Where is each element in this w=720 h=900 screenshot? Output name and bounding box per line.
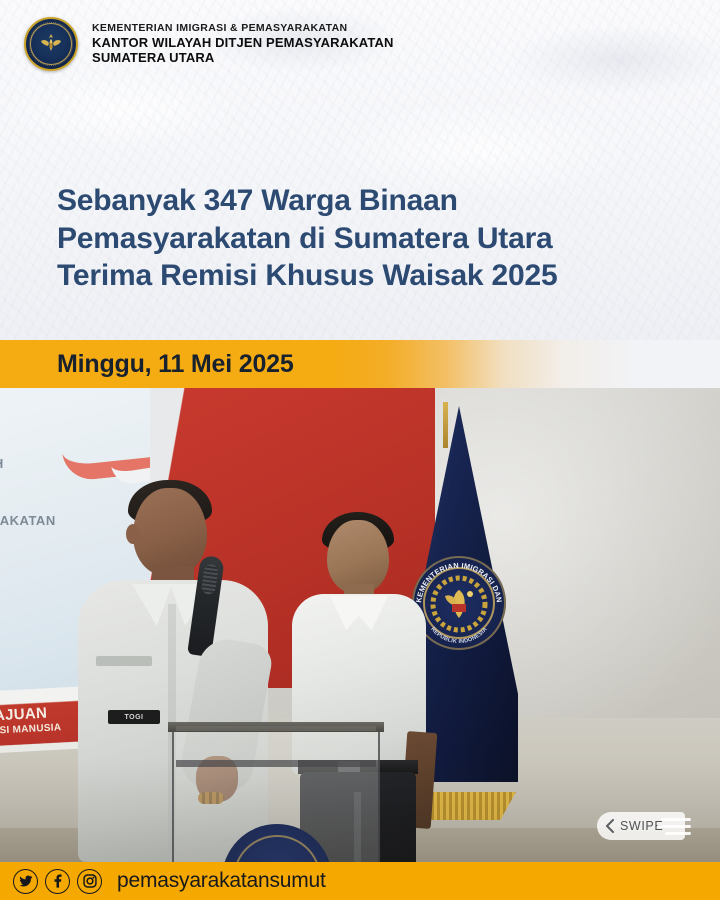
speaker-nametag: TOGI (108, 710, 160, 724)
flag-ministry-emblem: KEMENTERIAN IMIGRASI DAN REPUBLIK INDONE… (412, 556, 506, 650)
backdrop-text-1: AH (0, 456, 4, 471)
flag-pole (443, 402, 448, 448)
poster-header: KEMENTERIAN IMIGRASI & PEMASYARAKATAN KA… (0, 0, 720, 88)
swipe-button[interactable]: SWIPE (597, 812, 685, 840)
news-photo: AH YARAKATAN AJUAN ASI MANUSIA KEMENTERI… (0, 388, 720, 862)
header-line-1: KEMENTERIAN IMIGRASI & PEMASYARAKATAN (92, 22, 394, 34)
speaker-head (133, 488, 207, 576)
backdrop-text-2: YARAKATAN (0, 513, 56, 528)
twitter-icon[interactable] (13, 869, 38, 894)
instagram-icon[interactable] (77, 869, 102, 894)
date-band: Minggu, 11 Mei 2025 (0, 340, 720, 388)
chevron-left-icon (605, 819, 615, 833)
date-text: Minggu, 11 Mei 2025 (57, 350, 294, 379)
social-media-poster: KEMENTERIAN IMIGRASI & PEMASYARAKATAN KA… (0, 0, 720, 900)
headline-title: Sebanyak 347 Warga Binaan Pemasyarakatan… (57, 182, 617, 295)
red-strip-text-1: AJUAN (0, 705, 48, 725)
speaker-shirt-pocket (96, 656, 152, 666)
header-line-2: KANTOR WILAYAH DITJEN PEMASYARAKATAN (92, 35, 394, 50)
ministry-crest-logo (24, 17, 78, 71)
header-line-3: SUMATERA UTARA (92, 50, 394, 65)
social-handle: pemasyarakatansumut (117, 869, 326, 893)
podium-upper-bar (176, 726, 376, 731)
podium-emblem-lettering: GRASI DAN PE (222, 824, 332, 862)
flag-emblem-lettering: KEMENTERIAN IMIGRASI DAN REPUBLIK INDONE… (412, 556, 506, 650)
garuda-emblem-icon (39, 33, 63, 55)
flag-emblem-arc-bottom: REPUBLIK INDONESIA (429, 626, 488, 645)
podium-emblem: GRASI DAN PE (222, 824, 332, 862)
flag-emblem-star (467, 591, 473, 597)
facebook-icon[interactable] (45, 869, 70, 894)
header-text-block: KEMENTERIAN IMIGRASI & PEMASYARAKATAN KA… (92, 22, 394, 65)
speaker-ear (126, 524, 140, 544)
swipe-motion-lines (657, 818, 691, 835)
social-footer-bar: pemasyarakatansumut (0, 862, 720, 900)
second-man-head (327, 520, 389, 594)
podium-mid-rail (176, 760, 376, 767)
